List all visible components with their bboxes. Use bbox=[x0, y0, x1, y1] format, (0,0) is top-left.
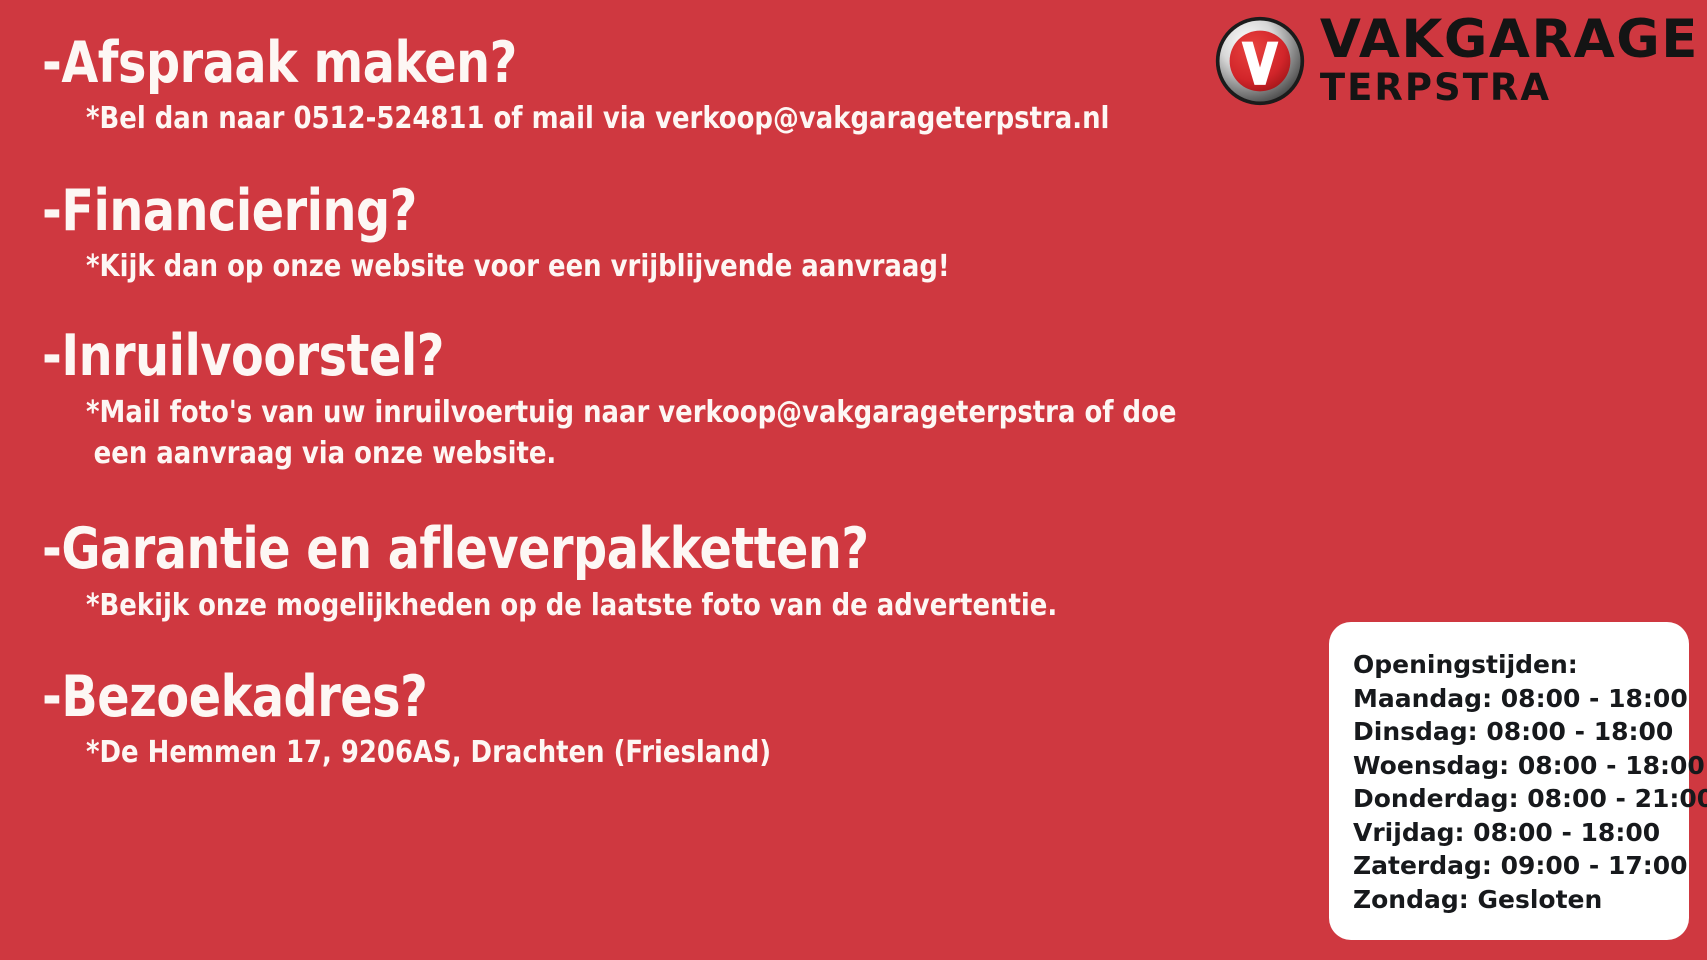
opening-hours-row: Maandag: 08:00 - 18:00 bbox=[1353, 682, 1665, 716]
section-answer-line: *Mail foto's van uw inruilvoertuig naar … bbox=[86, 395, 1176, 430]
section-heading: -Financiering? bbox=[42, 182, 1249, 241]
opening-hours-row: Zaterdag: 09:00 - 17:00 bbox=[1353, 849, 1665, 883]
opening-hours-row: Zondag: Gesloten bbox=[1353, 883, 1665, 917]
section-afspraak: -Afspraak maken? *Bel dan naar 0512-5248… bbox=[42, 34, 1340, 140]
section-answer: *Bel dan naar 0512-524811 of mail via ve… bbox=[86, 98, 1290, 139]
opening-hours-row: Donderdag: 08:00 - 21:00 bbox=[1353, 782, 1665, 816]
section-inruilvoorstel: -Inruilvoorstel? *Mail foto's van uw inr… bbox=[42, 327, 1340, 474]
section-answer: *De Hemmen 17, 9206AS, Drachten (Friesla… bbox=[86, 732, 1290, 773]
section-answer-line: *De Hemmen 17, 9206AS, Drachten (Friesla… bbox=[86, 735, 771, 770]
promo-poster: VAKGARAGE TERPSTRA -Afspraak maken? *Bel… bbox=[0, 0, 1707, 960]
opening-hours-row: Dinsdag: 08:00 - 18:00 bbox=[1353, 715, 1665, 749]
section-answer-line: *Bel dan naar 0512-524811 of mail via ve… bbox=[86, 101, 1109, 136]
section-answer-continuation: een aanvraag via onze website. bbox=[94, 433, 1290, 474]
section-heading: -Inruilvoorstel? bbox=[42, 327, 1249, 386]
section-garantie: -Garantie en afleverpakketten? *Bekijk o… bbox=[42, 520, 1340, 626]
section-answer-line: *Bekijk onze mogelijkheden op de laatste… bbox=[86, 588, 1057, 623]
logo-primary-text: VAKGARAGE bbox=[1320, 14, 1699, 66]
opening-hours-row: Vrijdag: 08:00 - 18:00 bbox=[1353, 816, 1665, 850]
section-heading: -Afspraak maken? bbox=[42, 34, 1249, 93]
section-answer-line: *Kijk dan op onze website voor een vrijb… bbox=[86, 249, 950, 284]
logo-secondary-text: TERPSTRA bbox=[1320, 68, 1551, 109]
faq-content: -Afspraak maken? *Bel dan naar 0512-5248… bbox=[0, 0, 1340, 774]
opening-hours-card: Openingstijden: Maandag: 08:00 - 18:00 D… bbox=[1329, 622, 1689, 940]
opening-hours-row: Woensdag: 08:00 - 18:00 bbox=[1353, 749, 1665, 783]
opening-hours-title: Openingstijden: bbox=[1353, 648, 1665, 682]
section-heading: -Bezoekadres? bbox=[42, 668, 1249, 727]
section-financiering: -Financiering? *Kijk dan op onze website… bbox=[42, 182, 1340, 288]
section-answer: *Bekijk onze mogelijkheden op de laatste… bbox=[86, 585, 1290, 626]
section-answer: *Mail foto's van uw inruilvoertuig naar … bbox=[86, 392, 1290, 475]
section-heading: -Garantie en afleverpakketten? bbox=[42, 520, 1249, 579]
logo-wordmark: VAKGARAGE TERPSTRA bbox=[1320, 14, 1699, 109]
section-answer: *Kijk dan op onze website voor een vrijb… bbox=[86, 246, 1290, 287]
section-bezoekadres: -Bezoekadres? *De Hemmen 17, 9206AS, Dra… bbox=[42, 668, 1340, 774]
